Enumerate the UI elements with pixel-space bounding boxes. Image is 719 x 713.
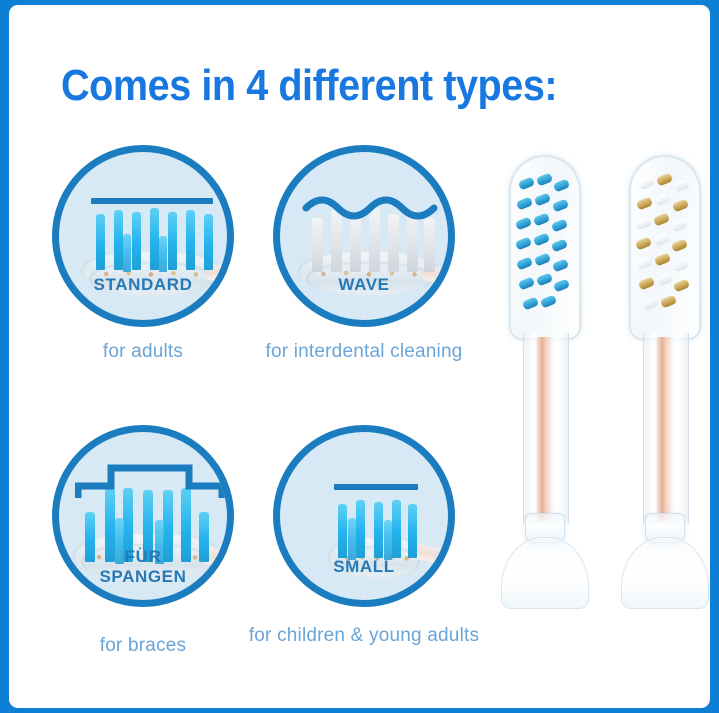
brush-illustration-wave: [280, 152, 455, 327]
product-photo-gold: [615, 155, 710, 615]
content-panel: Comes in 4 different types:: [9, 5, 710, 708]
badge-circle: [273, 425, 455, 607]
type-badge-wave[interactable]: WAVE for interdental cleaning: [273, 145, 455, 327]
brush-head-blue: [509, 155, 581, 340]
badge-label-braces-line1: FÜR: [52, 547, 234, 566]
page-border: Comes in 4 different types:: [0, 0, 719, 713]
brush-illustration-small: [280, 432, 455, 607]
brush-metal-strip-gold: [655, 337, 673, 522]
badge-circle: [52, 145, 234, 327]
badge-caption-wave: for interdental cleaning: [233, 341, 495, 363]
brush-metal-strip-blue: [535, 337, 553, 522]
brush-illustration-standard: [59, 152, 234, 327]
badge-label-small: SMALL: [273, 557, 455, 576]
badge-label-standard: STANDARD: [52, 275, 234, 294]
badge-circle: [273, 145, 455, 327]
type-badge-braces[interactable]: FÜR SPANGEN for braces: [52, 425, 234, 607]
page-title: Comes in 4 different types:: [61, 61, 557, 111]
brush-base-blue: [501, 537, 589, 609]
type-badge-small[interactable]: SMALL for children & young adults: [273, 425, 455, 607]
product-photo-blue: [495, 155, 599, 615]
badge-label-braces-line2: SPANGEN: [52, 567, 234, 586]
badge-label-wave: WAVE: [273, 275, 455, 294]
type-badge-standard[interactable]: STANDARD for adults: [52, 145, 234, 327]
brush-head-gold: [629, 155, 701, 340]
badge-caption-small: for children & young adults: [233, 625, 495, 647]
brush-base-gold: [621, 537, 709, 609]
